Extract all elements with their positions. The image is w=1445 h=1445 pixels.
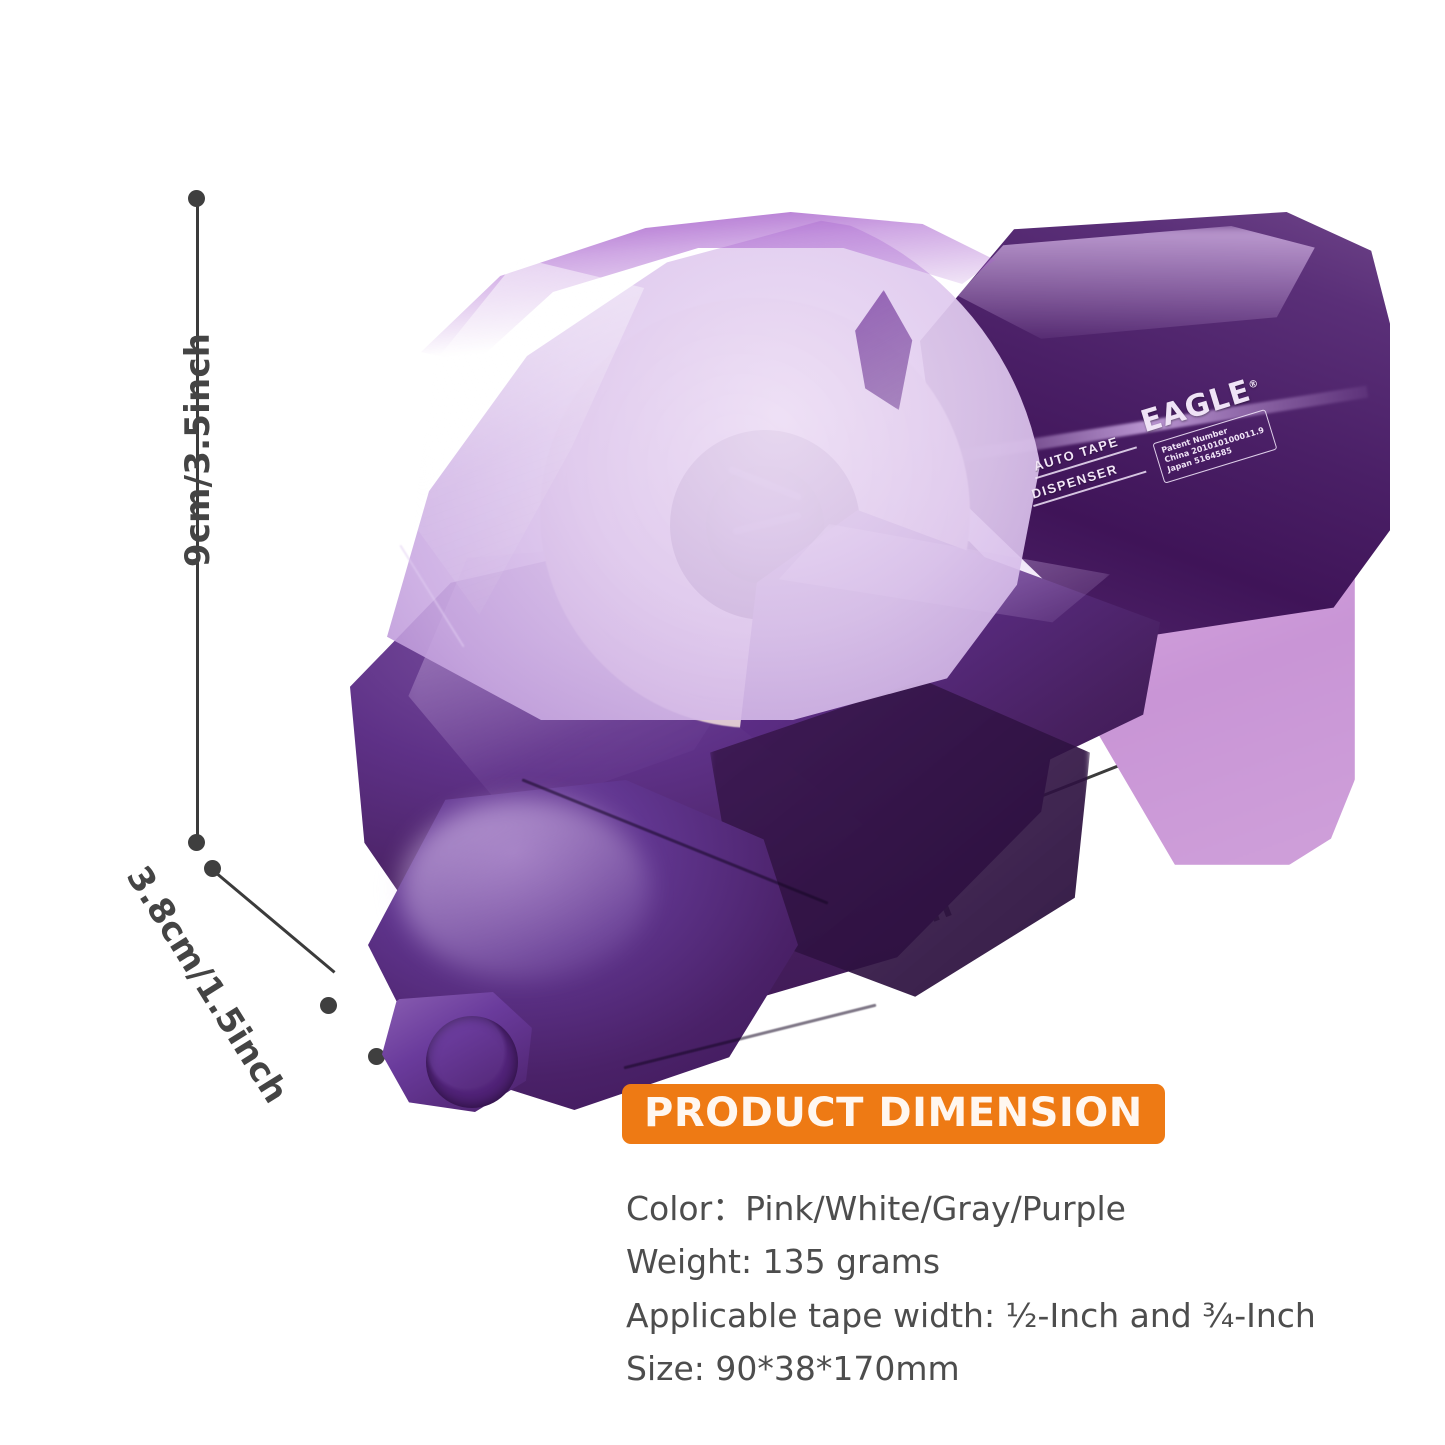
product-image-tape-dispenser <box>150 180 1330 1040</box>
front-nose-highlight <box>400 800 650 980</box>
product-dimension-infographic: 9cm/3.5inch 3.8cm/1.5inch 17cm/6.7inch <box>0 0 1445 1445</box>
spec-tape-width: Applicable tape width: ½-Inch and ¾-Inch <box>626 1289 1386 1342</box>
spec-color: Color：Pink/White/Gray/Purple <box>626 1182 1386 1235</box>
heading-title-text: PRODUCT DIMENSION <box>644 1090 1143 1136</box>
front-roller-ring <box>426 1016 518 1108</box>
product-spec-list: Color：Pink/White/Gray/Purple Weight: 135… <box>626 1182 1386 1396</box>
spec-weight: Weight: 135 grams <box>626 1235 1386 1288</box>
spec-size: Size: 90*38*170mm <box>626 1342 1386 1395</box>
width-line-start-dot <box>368 1048 385 1065</box>
product-dimension-heading-badge: PRODUCT DIMENSION <box>622 1084 1165 1144</box>
